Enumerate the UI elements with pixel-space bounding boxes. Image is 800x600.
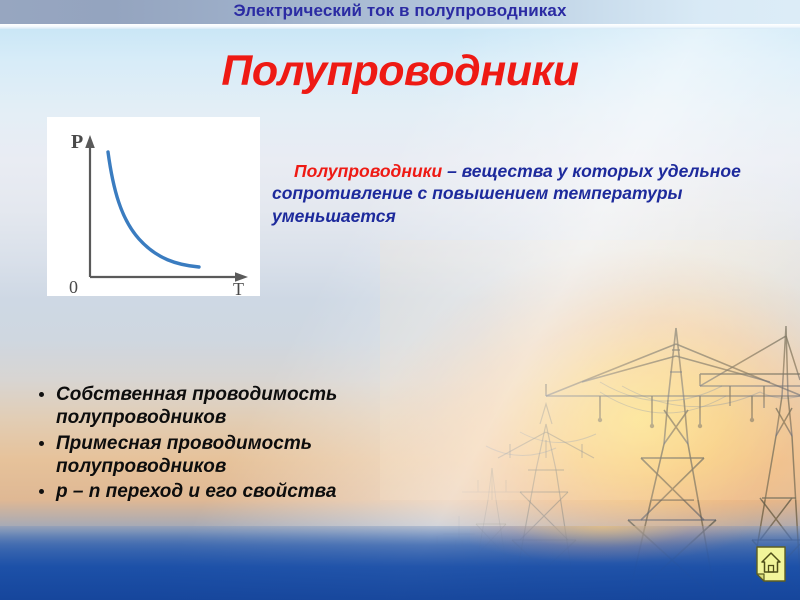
topic-list: Собственная проводимость полупроводников… (30, 383, 450, 506)
chart-svg: P 0 T (47, 117, 260, 296)
home-icon[interactable] (756, 546, 786, 582)
header-divider (0, 24, 800, 29)
chart-xlabel: T (233, 279, 244, 296)
background-water-glow (470, 526, 800, 600)
chart-origin-label: 0 (69, 277, 78, 296)
page-title: Полупроводники (0, 47, 800, 96)
list-item: p – n переход и его свойства (30, 480, 450, 503)
resistivity-temperature-chart: P 0 T (47, 117, 260, 296)
list-item: Примесная проводимость полупроводников (30, 432, 450, 479)
definition-term: Полупроводники (294, 161, 442, 181)
chart-curve (108, 152, 199, 267)
chart-ylabel: P (71, 131, 83, 153)
chart-x-axis (90, 272, 248, 282)
home-button[interactable] (756, 546, 786, 582)
slide-root: Электрический ток в полупроводниках Полу… (0, 0, 800, 600)
list-item: Собственная проводимость полупроводников (30, 383, 450, 430)
definition-text: Полупроводники – вещества у которых удел… (272, 160, 746, 229)
header-title: Электрический ток в полупроводниках (0, 1, 800, 21)
chart-y-axis (85, 135, 95, 277)
